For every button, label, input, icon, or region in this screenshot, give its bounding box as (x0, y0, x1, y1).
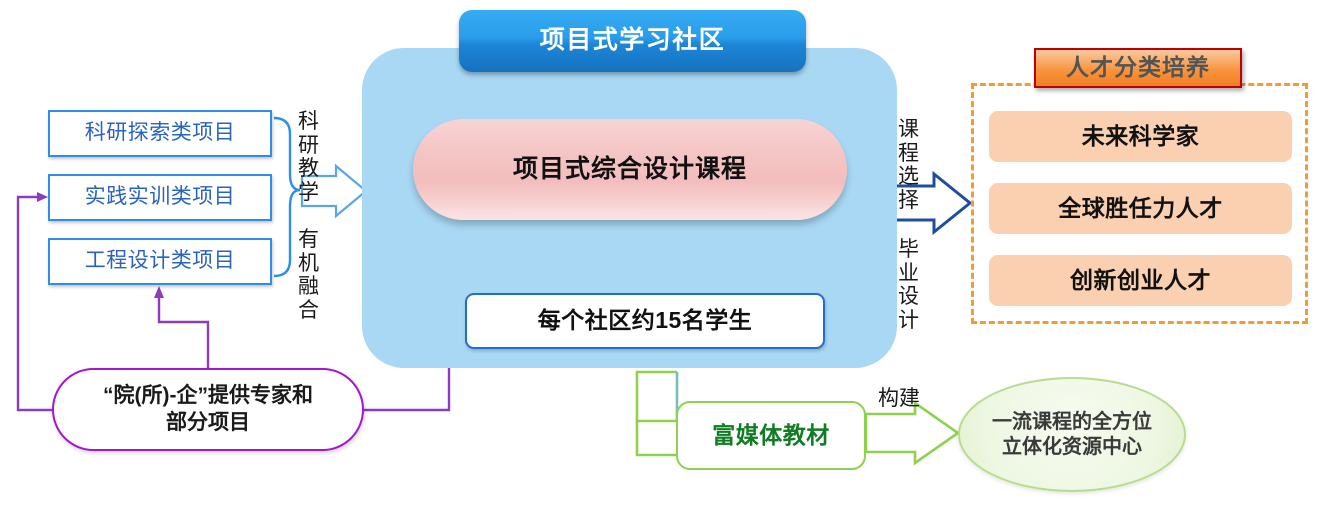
label-line-1: 毕业 (898, 238, 932, 285)
label-line-1: 有机 (298, 228, 332, 275)
label-line-2: 教学 (298, 157, 332, 204)
connector-community-to-media (637, 372, 677, 455)
resource-center-ellipse: 一流课程的全方位 立体化资源中心 (958, 377, 1186, 492)
label-graduation-design: 毕业 设计 (898, 238, 932, 332)
label-research-teaching: 科研 教学 (298, 110, 332, 204)
label-course-selection: 课程 选择 (898, 118, 932, 212)
project-box-practice: 实践实训类项目 (48, 174, 272, 221)
talent-box-global-competence: 全球胜任力人才 (989, 183, 1292, 234)
label-line-1: 科研 (298, 110, 332, 157)
project-box-research: 科研探索类项目 (48, 110, 272, 157)
expert-line-1: “院(所)-企”提供专家和 (103, 383, 313, 409)
resource-line-2: 立体化资源中心 (1002, 435, 1142, 460)
label-line-2: 设计 (898, 285, 932, 332)
label-line-2: 选择 (898, 165, 932, 212)
arrow-media-to-resource (866, 403, 958, 463)
resource-line-1: 一流课程的全方位 (992, 410, 1152, 435)
talent-box-future-scientist: 未来科学家 (989, 111, 1292, 162)
talent-box-innovation-entrepreneurship: 创新创业人才 (989, 255, 1292, 306)
label-line-2: 融合 (298, 275, 332, 322)
diagram-canvas: 项目式学习社区 项目式综合设计课程 每个社区约15名学生 科研探索类项目 实践实… (0, 0, 1322, 511)
talent-group-header: 人才分类培养 (1034, 48, 1242, 88)
label-organic-fusion: 有机 融合 (298, 228, 332, 322)
brace-projects (274, 118, 300, 276)
connector-expert-to-engineering (154, 286, 208, 368)
community-title: 项目式学习社区 (459, 10, 806, 72)
project-box-engineering: 工程设计类项目 (48, 238, 272, 285)
rich-media-textbook-box: 富媒体教材 (676, 401, 866, 470)
expert-line-2: 部分项目 (166, 410, 250, 436)
label-line-1: 课程 (898, 118, 932, 165)
label-construct: 构建 (869, 382, 929, 412)
course-pill: 项目式综合设计课程 (413, 119, 847, 220)
student-count-box: 每个社区约15名学生 (465, 293, 825, 349)
expert-source-box: “院(所)-企”提供专家和 部分项目 (52, 368, 364, 451)
connector-expert-to-practice (18, 192, 52, 410)
